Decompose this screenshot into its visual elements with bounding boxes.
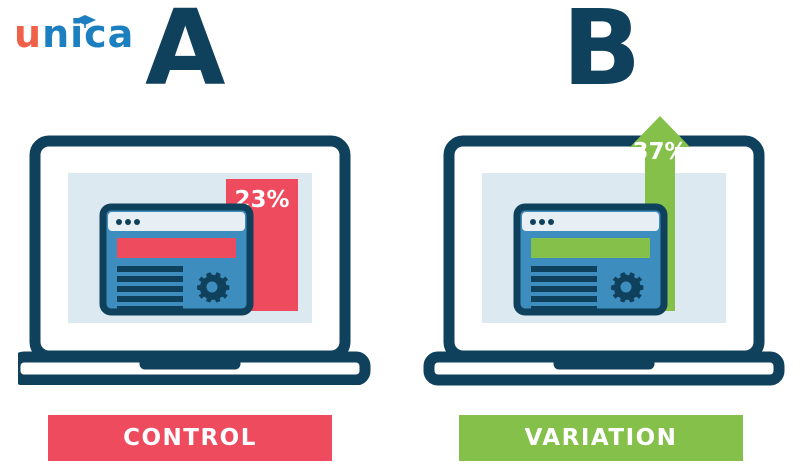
browser-window-b	[517, 207, 664, 312]
laptop-variation: 37%	[432, 135, 792, 385]
logo-letter-u: u	[14, 12, 42, 56]
metric-value-b: 37%	[632, 139, 687, 165]
variant-letter-b: B	[562, 0, 639, 100]
graduation-cap-icon	[74, 15, 96, 28]
label-variation: VARIATION	[459, 415, 743, 461]
laptop-base-b	[429, 357, 779, 380]
laptop-control: 23%	[18, 135, 378, 385]
label-control: CONTROL	[48, 415, 332, 461]
variant-letter-a: A	[145, 0, 224, 100]
page-hero-banner-b	[531, 238, 650, 258]
window-dots-a	[116, 219, 140, 225]
laptop-base-a	[18, 357, 365, 380]
unica-logo: unica	[14, 12, 154, 60]
browser-window-a	[103, 207, 250, 312]
ab-test-infographic: unica A B 23%	[0, 0, 800, 472]
window-dots-b	[530, 219, 554, 225]
page-hero-banner-a	[117, 238, 236, 258]
